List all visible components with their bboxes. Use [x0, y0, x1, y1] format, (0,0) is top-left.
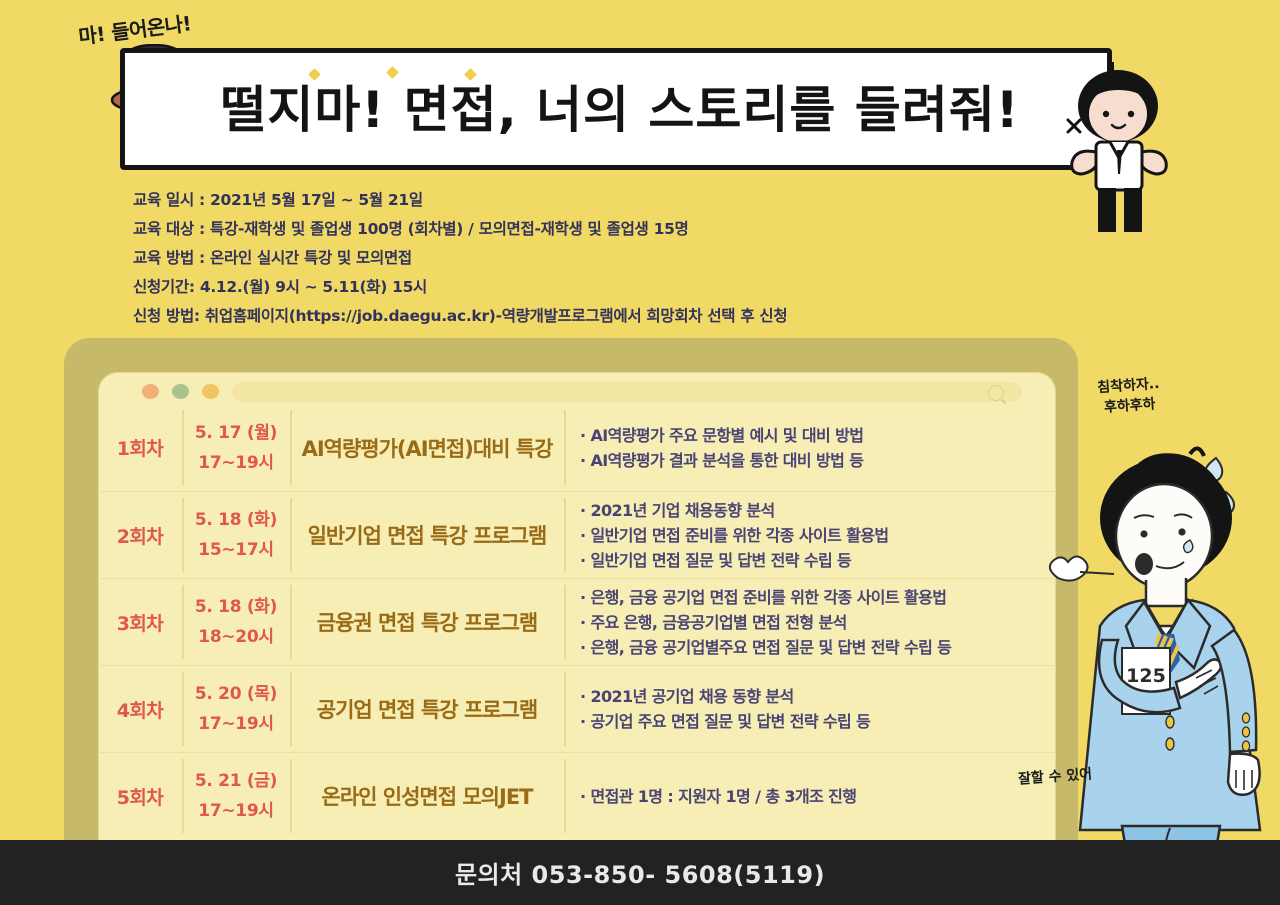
- row-details: · 은행, 금융 공기업 면접 준비를 위한 각종 사이트 활용법 · 주요 은…: [564, 585, 1056, 660]
- detail-item: · 면접관 1명 : 지원자 1명 / 총 3개조 진행: [580, 784, 1056, 809]
- info-line-method: 교육 방법 : 온라인 실시간 특강 및 모의면접: [133, 244, 1033, 273]
- table-row: 5회차 5. 21 (금) 17~19시 온라인 인성면접 모의JET · 면접…: [98, 752, 1056, 839]
- detail-item: · 은행, 금융 공기업 면접 준비를 위한 각종 사이트 활용법: [580, 585, 1056, 610]
- address-bar[interactable]: [232, 382, 1022, 402]
- column-divider: [182, 759, 184, 833]
- column-divider: [290, 585, 292, 659]
- calm-speech-line2: 후하후하: [1098, 394, 1161, 418]
- info-line-apply-period: 신청기간: 4.12.(월) 9시 ~ 5.11(화) 15시: [133, 273, 1033, 302]
- column-divider: [182, 498, 184, 572]
- table-row: 3회차 5. 18 (화) 18~20시 금융권 면접 특강 프로그램 · 은행…: [98, 578, 1056, 665]
- browser-window: 1회차 5. 17 (월) 17~19시 AI역량평가(AI면접)대비 특강 ·…: [98, 372, 1056, 850]
- window-maximize-dot-icon[interactable]: [202, 384, 219, 399]
- detail-item: · 은행, 금융 공기업별주요 면접 질문 및 답변 전략 수립 등: [580, 635, 1056, 660]
- row-time: 17~19시: [182, 709, 290, 739]
- footer-bar: 문의처 053-850- 5608(5119): [0, 840, 1280, 905]
- detail-item: · 공기업 주요 면접 질문 및 답변 전략 수립 등: [580, 709, 1056, 734]
- row-round: 2회차: [98, 522, 182, 549]
- column-divider: [290, 759, 292, 833]
- row-datetime: 5. 18 (화) 15~17시: [182, 505, 290, 565]
- info-line-date: 교육 일시 : 2021년 5월 17일 ~ 5월 21일: [133, 186, 1033, 215]
- row-date: 5. 21 (금): [182, 766, 290, 796]
- row-program: 금융권 면접 특강 프로그램: [290, 607, 564, 637]
- column-divider: [290, 410, 292, 485]
- table-row: 2회차 5. 18 (화) 15~17시 일반기업 면접 특강 프로그램 · 2…: [98, 491, 1056, 578]
- row-datetime: 5. 20 (목) 17~19시: [182, 679, 290, 739]
- row-round: 3회차: [98, 609, 182, 636]
- row-time: 17~19시: [182, 448, 290, 478]
- calm-speech-text: 침착하자.. 후하후하: [1097, 374, 1162, 418]
- row-datetime: 5. 18 (화) 18~20시: [182, 592, 290, 652]
- row-details: · 2021년 공기업 채용 동향 분석 · 공기업 주요 면접 질문 및 답변…: [564, 684, 1056, 734]
- badge-number: 125: [1126, 665, 1166, 687]
- row-time: 17~19시: [182, 796, 290, 826]
- table-row: 1회차 5. 17 (월) 17~19시 AI역량평가(AI면접)대비 특강 ·…: [98, 404, 1056, 491]
- info-list: 교육 일시 : 2021년 5월 17일 ~ 5월 21일 교육 대상 : 특강…: [133, 186, 1033, 331]
- column-divider: [564, 410, 566, 485]
- row-round: 1회차: [98, 434, 182, 461]
- row-details: · 면접관 1명 : 지원자 1명 / 총 3개조 진행: [564, 784, 1056, 809]
- window-close-dot-icon[interactable]: [142, 384, 159, 399]
- row-round: 5회차: [98, 783, 182, 810]
- row-program: 공기업 면접 특강 프로그램: [290, 694, 564, 724]
- row-details: · AI역량평가 주요 문항별 예시 및 대비 방법 · AI역량평가 결과 분…: [564, 423, 1056, 473]
- row-round: 4회차: [98, 696, 182, 723]
- browser-chrome: [98, 372, 1056, 404]
- schedule-table: 1회차 5. 17 (월) 17~19시 AI역량평가(AI면접)대비 특강 ·…: [98, 404, 1056, 839]
- info-line-audience: 교육 대상 : 특강-재학생 및 졸업생 100명 (회차별) / 모의면접-재…: [133, 215, 1033, 244]
- row-program: 일반기업 면접 특강 프로그램: [290, 520, 564, 550]
- row-datetime: 5. 17 (월) 17~19시: [182, 418, 290, 478]
- row-date: 5. 18 (화): [182, 592, 290, 622]
- row-time: 15~17시: [182, 535, 290, 565]
- column-divider: [564, 585, 566, 659]
- row-datetime: 5. 21 (금) 17~19시: [182, 766, 290, 826]
- column-divider: [290, 498, 292, 572]
- row-date: 5. 18 (화): [182, 505, 290, 535]
- row-date: 5. 20 (목): [182, 679, 290, 709]
- search-icon: [988, 385, 1004, 401]
- detail-item: · 2021년 기업 채용동향 분석: [580, 498, 1056, 523]
- info-line-apply-method: 신청 방법: 취업홈페이지(https://job.daegu.ac.kr)-역…: [133, 302, 1033, 331]
- column-divider: [182, 672, 184, 746]
- page-title: 떨지마! 면접, 너의 스토리를 들려줘!: [160, 70, 1080, 142]
- nervous-applicant-character: 125: [1040, 430, 1280, 850]
- detail-item: · AI역량평가 결과 분석을 통한 대비 방법 등: [580, 448, 1056, 473]
- column-divider: [564, 498, 566, 572]
- detail-item: · 2021년 공기업 채용 동향 분석: [580, 684, 1056, 709]
- column-divider: [182, 585, 184, 659]
- table-row: 4회차 5. 20 (목) 17~19시 공기업 면접 특강 프로그램 · 20…: [98, 665, 1056, 752]
- column-divider: [182, 410, 184, 485]
- column-divider: [564, 672, 566, 746]
- window-minimize-dot-icon[interactable]: [172, 384, 189, 399]
- detail-item: · 일반기업 면접 준비를 위한 각종 사이트 활용법: [580, 523, 1056, 548]
- column-divider: [290, 672, 292, 746]
- detail-item: · 주요 은행, 금융공기업별 면접 전형 분석: [580, 610, 1056, 635]
- row-program: 온라인 인성면접 모의JET: [290, 781, 564, 811]
- row-details: · 2021년 기업 채용동향 분석 · 일반기업 면접 준비를 위한 각종 사…: [564, 498, 1056, 573]
- detail-item: · AI역량평가 주요 문항별 예시 및 대비 방법: [580, 423, 1056, 448]
- row-program: AI역량평가(AI면접)대비 특강: [290, 433, 564, 463]
- detail-item: · 일반기업 면접 질문 및 답변 전략 수립 등: [580, 548, 1056, 573]
- contact-text: 문의처 053-850- 5608(5119): [455, 855, 825, 890]
- poster-canvas: 마! 들어온나! 떨지마! 면접, 너의 스토리를 들려줘!: [0, 0, 1280, 905]
- column-divider: [564, 759, 566, 833]
- row-time: 18~20시: [182, 622, 290, 652]
- cheering-character: [1040, 62, 1200, 234]
- row-date: 5. 17 (월): [182, 418, 290, 448]
